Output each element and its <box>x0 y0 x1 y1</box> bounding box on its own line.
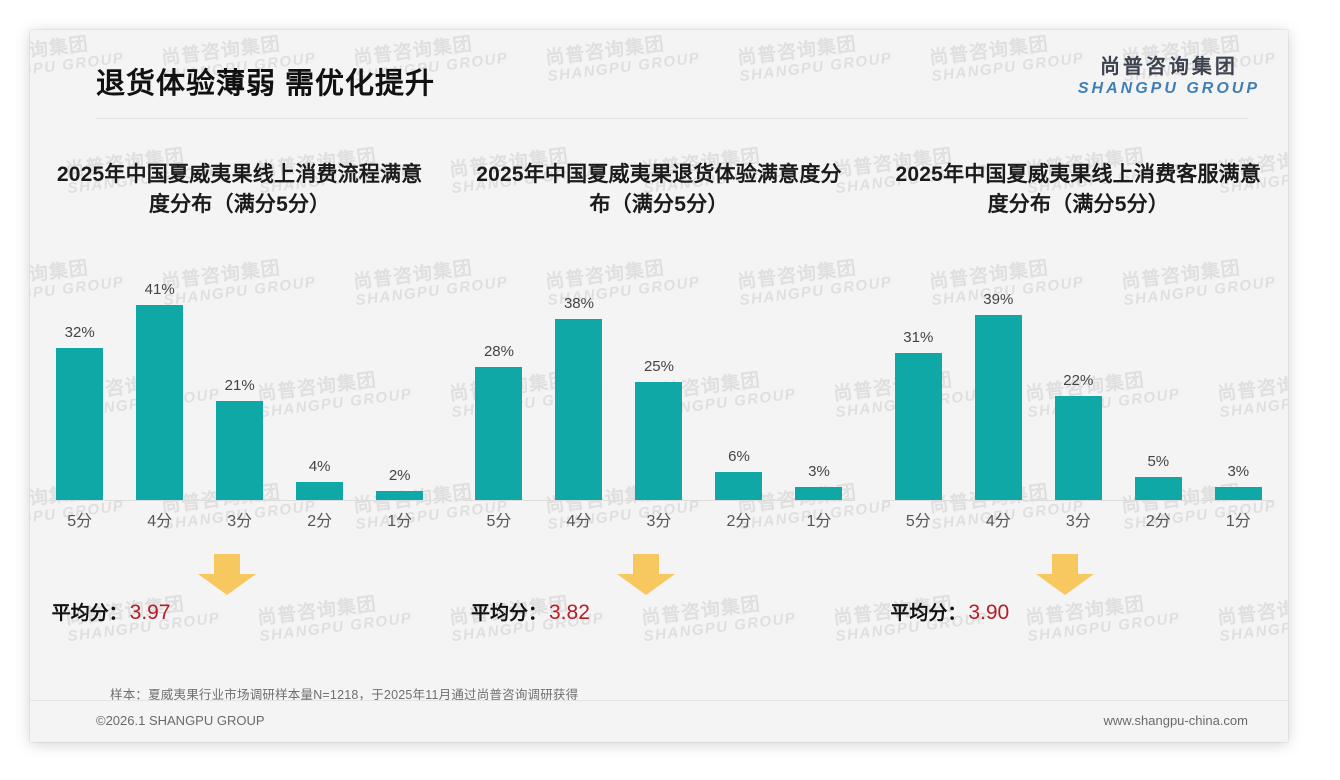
chart-title: 2025年中国夏威夷果线上消费客服满意度分布（满分5分） <box>892 160 1264 220</box>
bar-value-label: 25% <box>644 358 674 375</box>
axis-baseline <box>44 500 436 501</box>
logo-english-text: SHANGPU GROUP <box>1078 79 1260 98</box>
slide-header: 退货体验薄弱 需优化提升 尚普咨询集团 SHANGPU GROUP <box>30 30 1288 123</box>
average-score-value: 3.82 <box>549 601 590 624</box>
bar[interactable] <box>895 353 942 501</box>
chart-title: 2025年中国夏威夷果线上消费流程满意度分布（满分5分） <box>54 160 426 220</box>
bar-slot: 25% <box>623 286 695 501</box>
slide-canvas: 尚普咨询集团SHANGPU GROUP尚普咨询集团SHANGPU GROUP尚普… <box>30 30 1288 742</box>
copyright-text: ©2026.1 SHANGPU GROUP <box>96 713 265 728</box>
average-score-label: 平均分： <box>890 603 966 624</box>
bar-series: 28%38%25%6%3% <box>463 286 855 501</box>
bar-slot: 28% <box>463 286 535 501</box>
category-tick-label: 1分 <box>783 507 855 531</box>
bar-slot: 32% <box>44 286 116 501</box>
average-score-label: 平均分： <box>52 603 128 624</box>
bar[interactable] <box>1215 487 1262 501</box>
bar[interactable] <box>715 472 762 501</box>
axis-baseline <box>882 500 1274 501</box>
average-score-callout: 平均分：3.82 <box>463 554 855 634</box>
bar-slot: 22% <box>1042 286 1114 501</box>
bar-value-label: 32% <box>65 324 95 341</box>
website-link[interactable]: www.shangpu-china.com <box>1103 713 1248 728</box>
footer-divider <box>30 700 1288 701</box>
charts-row: 2025年中国夏威夷果线上消费流程满意度分布（满分5分）32%41%21%4%2… <box>30 126 1288 676</box>
bar[interactable] <box>975 315 1022 501</box>
category-tick-label: 1分 <box>1202 507 1274 531</box>
bar-series: 32%41%21%4%2% <box>44 286 436 501</box>
category-tick-label: 2分 <box>284 507 356 531</box>
chart-title: 2025年中国夏威夷果退货体验满意度分布（满分5分） <box>473 160 845 220</box>
average-score-text: 平均分：3.90 <box>890 598 1009 625</box>
axis-baseline <box>463 500 855 501</box>
bar[interactable] <box>1055 396 1102 501</box>
category-tick-label: 1分 <box>364 507 436 531</box>
bar[interactable] <box>555 319 602 501</box>
bar-value-label: 3% <box>808 463 830 480</box>
header-divider <box>96 118 1248 119</box>
category-tick-label: 2分 <box>703 507 775 531</box>
bar-slot: 3% <box>783 286 855 501</box>
logo-chinese-text: 尚普咨询集团 <box>1078 56 1260 79</box>
bar-slot: 31% <box>882 286 954 501</box>
bar-slot: 6% <box>703 286 775 501</box>
average-score-text: 平均分：3.97 <box>52 598 171 625</box>
category-tick-label: 5分 <box>44 507 116 531</box>
bar-value-label: 2% <box>389 467 411 484</box>
chart-plot-area: 28%38%25%6%3% <box>463 286 855 501</box>
category-tick-label: 4分 <box>124 507 196 531</box>
bar-slot: 2% <box>364 286 436 501</box>
average-score-text: 平均分：3.82 <box>471 598 590 625</box>
average-score-callout: 平均分：3.97 <box>44 554 436 634</box>
bar-slot: 21% <box>204 286 276 501</box>
average-score-callout: 平均分：3.90 <box>882 554 1274 634</box>
down-arrow-icon <box>615 554 677 596</box>
bar[interactable] <box>635 382 682 501</box>
bar-value-label: 28% <box>484 343 514 360</box>
category-axis: 5分4分3分2分1分 <box>882 507 1274 531</box>
bar-series: 31%39%22%5%3% <box>882 286 1274 501</box>
chart-panel-1: 2025年中国夏威夷果线上消费流程满意度分布（满分5分）32%41%21%4%2… <box>30 126 449 676</box>
chart-plot-area: 31%39%22%5%3% <box>882 286 1274 501</box>
category-tick-label: 4分 <box>543 507 615 531</box>
category-axis: 5分4分3分2分1分 <box>44 507 436 531</box>
bar-slot: 38% <box>543 286 615 501</box>
category-tick-label: 5分 <box>882 507 954 531</box>
bar-slot: 3% <box>1202 286 1274 501</box>
bar-value-label: 31% <box>903 329 933 346</box>
average-score-value: 3.97 <box>130 601 171 624</box>
bar[interactable] <box>216 401 263 501</box>
chart-panel-2: 2025年中国夏威夷果退货体验满意度分布（满分5分）28%38%25%6%3%5… <box>449 126 868 676</box>
bar-value-label: 4% <box>309 458 331 475</box>
category-tick-label: 3分 <box>623 507 695 531</box>
bar-slot: 39% <box>962 286 1034 501</box>
chart-panel-3: 2025年中国夏威夷果线上消费客服满意度分布（满分5分）31%39%22%5%3… <box>869 126 1288 676</box>
bar-value-label: 39% <box>983 291 1013 308</box>
bar[interactable] <box>136 305 183 501</box>
average-score-value: 3.90 <box>968 601 1009 624</box>
bar-value-label: 41% <box>145 281 175 298</box>
chart-plot-area: 32%41%21%4%2% <box>44 286 436 501</box>
bar-slot: 41% <box>124 286 196 501</box>
bar-value-label: 22% <box>1063 372 1093 389</box>
page-title: 退货体验薄弱 需优化提升 <box>96 60 435 102</box>
category-axis: 5分4分3分2分1分 <box>463 507 855 531</box>
bar-slot: 4% <box>284 286 356 501</box>
down-arrow-icon <box>196 554 258 596</box>
bar[interactable] <box>1135 477 1182 501</box>
bar[interactable] <box>475 367 522 501</box>
slide-footer: ©2026.1 SHANGPU GROUP www.shangpu-china.… <box>30 700 1288 742</box>
bar-value-label: 38% <box>564 295 594 312</box>
bar[interactable] <box>296 482 343 501</box>
average-score-label: 平均分： <box>471 603 547 624</box>
bar-value-label: 6% <box>728 448 750 465</box>
category-tick-label: 2分 <box>1122 507 1194 531</box>
bar-value-label: 5% <box>1147 453 1169 470</box>
category-tick-label: 4分 <box>962 507 1034 531</box>
category-tick-label: 5分 <box>463 507 535 531</box>
bar[interactable] <box>56 348 103 501</box>
category-tick-label: 3分 <box>204 507 276 531</box>
bar-value-label: 21% <box>225 377 255 394</box>
bar-slot: 5% <box>1122 286 1194 501</box>
bar[interactable] <box>795 487 842 501</box>
bar-value-label: 3% <box>1227 463 1249 480</box>
brand-logo: 尚普咨询集团 SHANGPU GROUP <box>1078 56 1260 98</box>
category-tick-label: 3分 <box>1042 507 1114 531</box>
down-arrow-icon <box>1034 554 1096 596</box>
